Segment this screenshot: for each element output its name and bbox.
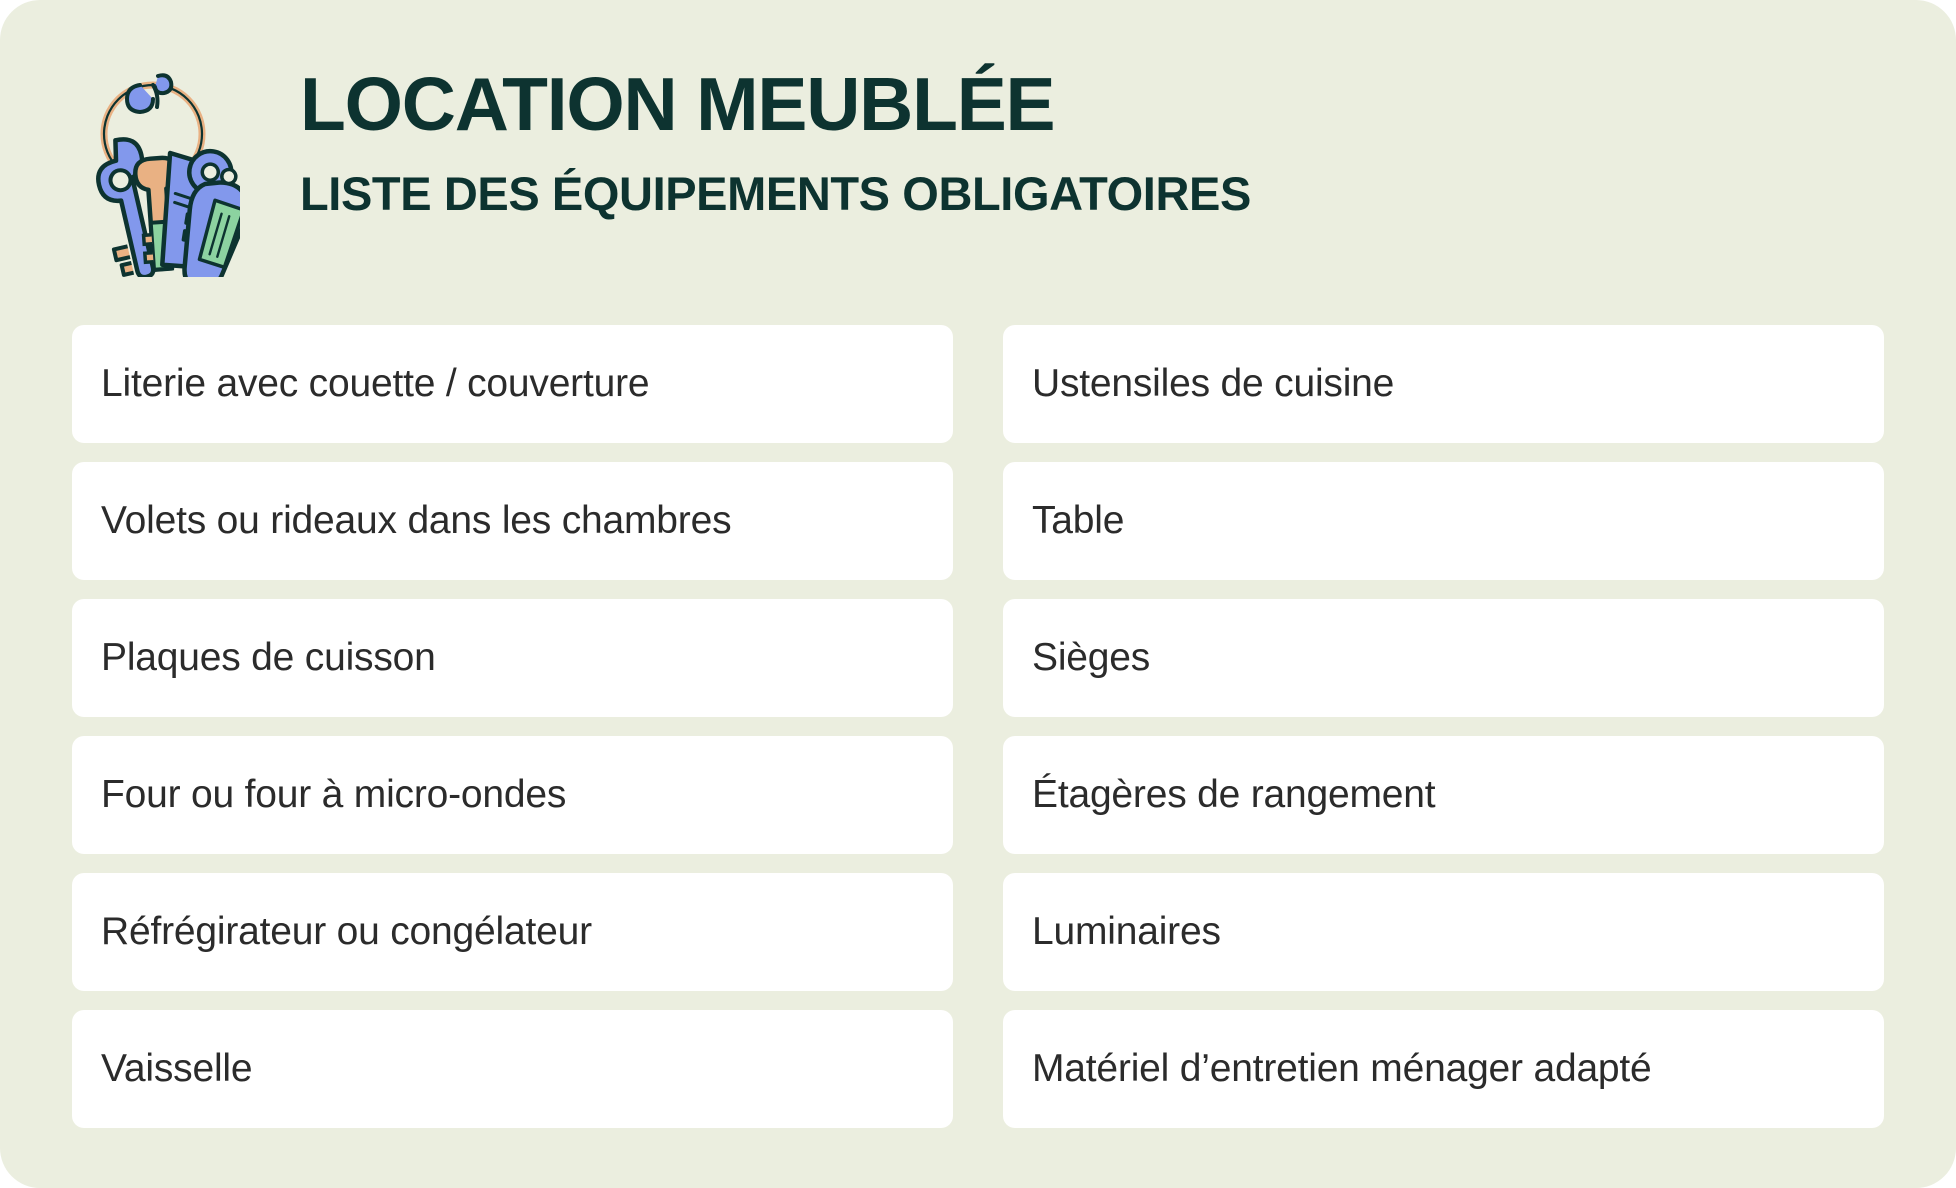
list-item-label: Literie avec couette / couverture	[101, 362, 649, 407]
list-item-label: Table	[1032, 499, 1124, 544]
left-column: Literie avec couette / couverture Volets…	[72, 325, 953, 1128]
list-item-label: Matériel d’entretien ménager adapté	[1032, 1047, 1652, 1092]
list-item: Matériel d’entretien ménager adapté	[1003, 1010, 1884, 1128]
list-item: Literie avec couette / couverture	[72, 325, 953, 443]
list-item: Luminaires	[1003, 873, 1884, 991]
list-item-label: Sièges	[1032, 636, 1150, 681]
list-item-label: Volets ou rideaux dans les chambres	[101, 499, 731, 544]
list-item-label: Luminaires	[1032, 910, 1221, 955]
list-item: Plaques de cuisson	[72, 599, 953, 717]
list-item-label: Vaisselle	[101, 1047, 252, 1092]
header: LOCATION MEUBLÉE LISTE DES ÉQUIPEMENTS O…	[62, 52, 1894, 282]
header-text-block: LOCATION MEUBLÉE LISTE DES ÉQUIPEMENTS O…	[300, 52, 1894, 218]
list-item-label: Four ou four à micro-ondes	[101, 773, 566, 818]
list-item: Sièges	[1003, 599, 1884, 717]
list-item: Table	[1003, 462, 1884, 580]
list-item-label: Plaques de cuisson	[101, 636, 436, 681]
equipment-list-grid: Literie avec couette / couverture Volets…	[72, 325, 1884, 1128]
list-item-label: Ustensiles de cuisine	[1032, 362, 1394, 407]
list-item-label: Réfrégirateur ou congélateur	[101, 910, 592, 955]
keys-icon	[70, 62, 240, 277]
list-item: Four ou four à micro-ondes	[72, 736, 953, 854]
list-item: Réfrégirateur ou congélateur	[72, 873, 953, 991]
list-item: Ustensiles de cuisine	[1003, 325, 1884, 443]
infographic-card: LOCATION MEUBLÉE LISTE DES ÉQUIPEMENTS O…	[0, 0, 1956, 1188]
list-item-label: Étagères de rangement	[1032, 773, 1435, 818]
list-item: Vaisselle	[72, 1010, 953, 1128]
right-column: Ustensiles de cuisine Table Sièges Étagè…	[1003, 325, 1884, 1128]
list-item: Volets ou rideaux dans les chambres	[72, 462, 953, 580]
page-title: LOCATION MEUBLÉE	[300, 66, 1894, 143]
list-item: Étagères de rangement	[1003, 736, 1884, 854]
page-subtitle: LISTE DES ÉQUIPEMENTS OBLIGATOIRES	[300, 169, 1894, 218]
